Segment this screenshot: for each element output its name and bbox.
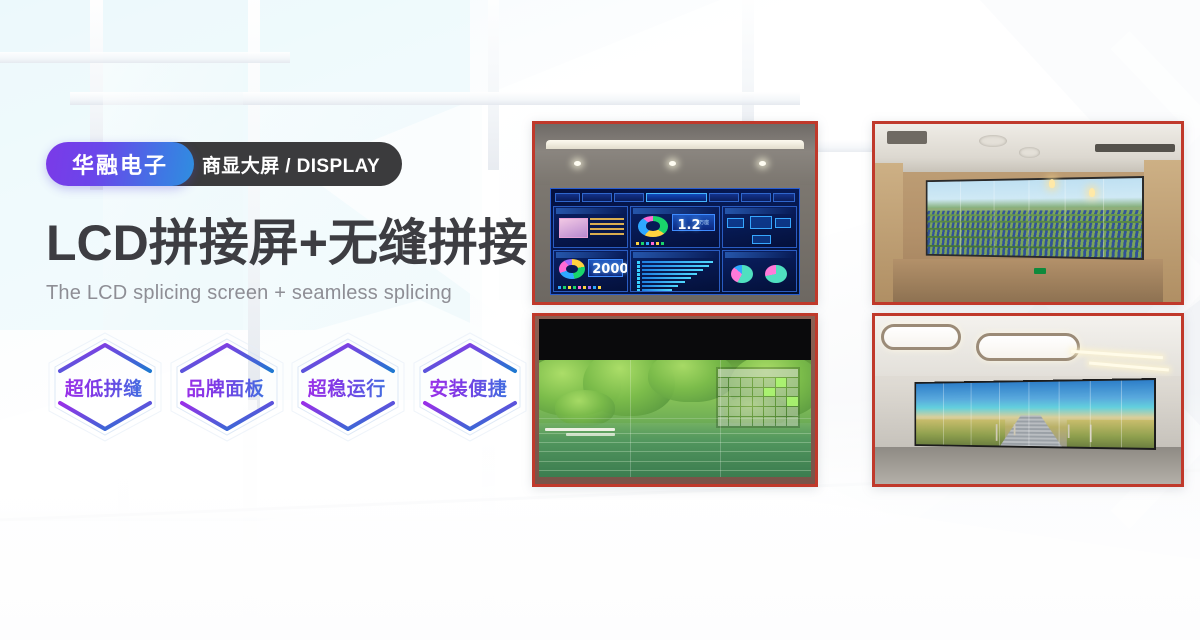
- pond-railing: [545, 428, 616, 431]
- dashboard-status-chip: [773, 193, 795, 202]
- dashboard-card-grid: 1.2 万座: [553, 206, 796, 292]
- dashboard-card-flow: [722, 206, 797, 248]
- page-title: LCD拼接屏+无缝拼接: [46, 216, 526, 270]
- video-wall-display: [915, 378, 1157, 450]
- dashboard-title-chip: [646, 193, 707, 202]
- pie-chart: [765, 265, 787, 283]
- dashboard-card-ranking: [630, 250, 719, 292]
- card-thumbnail: [559, 218, 588, 239]
- wood-wainscot: [893, 259, 1162, 302]
- ceiling-trim: [546, 140, 804, 149]
- chart-legend: [558, 286, 624, 289]
- headline-block: 商显大屏 / DISPLAY 华融电子 LCD拼接屏+无缝拼接 The LCD …: [46, 142, 526, 443]
- card-header: [725, 208, 794, 214]
- pond-screen-scene: [535, 316, 815, 484]
- metric-panel: 2000: [588, 259, 623, 277]
- pond-water: [539, 423, 811, 477]
- beach-wall-scene: [875, 316, 1181, 484]
- feature-hexagon-list: 超低拼缝 品牌面板: [46, 331, 526, 443]
- ceiling-vent: [1095, 144, 1175, 153]
- feature-hexagon-3: 安装便捷: [411, 331, 527, 443]
- dashboard-card-overview: [553, 206, 628, 248]
- feature-label-3: 安装便捷: [429, 374, 507, 401]
- metric-primary-unit: 万座: [699, 219, 709, 226]
- wall-spotlight: [1089, 188, 1095, 197]
- card-header: [633, 208, 716, 214]
- card-header: [725, 252, 794, 258]
- card-header: [556, 252, 625, 258]
- pond-display: [539, 360, 811, 478]
- dashboard-nav-chip: [709, 193, 739, 202]
- beach-dune: [1067, 420, 1154, 449]
- donut-chart: [638, 216, 668, 237]
- screen-top-panel-row: [539, 319, 811, 359]
- ceiling-light-oval: [881, 324, 961, 349]
- exit-sign-icon: [1034, 268, 1046, 274]
- dashboard-card-pies: [722, 250, 797, 292]
- photo-beach-boardwalk-video-wall: [872, 313, 1184, 487]
- promo-banner: 商显大屏 / DISPLAY 华融电子 LCD拼接屏+无缝拼接 The LCD …: [0, 0, 1200, 640]
- brand-name-badge: 华融电子: [46, 142, 194, 186]
- dashboard-nav-chip: [582, 193, 612, 202]
- chart-legend: [636, 242, 715, 245]
- photo-control-room-dashboard: 1.2 万座: [532, 121, 818, 305]
- pond-railing: [566, 433, 615, 436]
- calendar-title: [718, 369, 798, 377]
- flow-node: [752, 235, 771, 244]
- feature-hexagon-2: 超稳运行: [289, 331, 405, 443]
- dashboard-topbar: [553, 191, 796, 204]
- flow-node: [775, 218, 791, 228]
- donut-hole: [646, 221, 660, 231]
- dashboard-nav-chip: [741, 193, 771, 202]
- card-header: [556, 208, 625, 214]
- dashboard-card-statistics: 1.2 万座: [630, 206, 719, 248]
- solar-panel-field: [928, 208, 1142, 257]
- dashboard-scene: 1.2 万座: [535, 124, 815, 302]
- page-subtitle: The LCD splicing screen + seamless splic…: [46, 282, 526, 305]
- solar-wall-scene: [875, 124, 1181, 302]
- metric-secondary-value: 2000: [592, 262, 628, 277]
- boardwalk: [1000, 416, 1062, 447]
- flow-node: [750, 216, 772, 230]
- ceiling-light-oval: [976, 333, 1080, 362]
- dashboard-nav-chip: [614, 193, 644, 202]
- card-text-lines: [590, 218, 624, 239]
- ceiling-speaker: [979, 135, 1007, 147]
- video-wall-display: [926, 176, 1144, 260]
- metric-panel: 1.2 万座: [672, 214, 716, 231]
- dashboard-screen: 1.2 万座: [550, 188, 799, 295]
- brand-badge-row: 商显大屏 / DISPLAY 华融电子: [46, 142, 526, 186]
- feature-label-1: 品牌面板: [186, 374, 264, 401]
- dashboard-timestamp-chip: [555, 193, 579, 202]
- bar-chart: [637, 261, 714, 289]
- room-ceiling: [535, 124, 815, 185]
- photo-willow-pond-screen: [532, 313, 818, 487]
- card-header: [633, 252, 716, 258]
- donut-chart: [559, 259, 585, 279]
- flow-node: [727, 218, 745, 228]
- lobby-floor: [875, 447, 1181, 484]
- metric-primary-value: 1.2: [677, 218, 700, 233]
- donut-hole: [566, 265, 578, 274]
- ceiling-speaker: [1019, 147, 1040, 158]
- dashboard-card-region: 2000: [553, 250, 628, 292]
- feature-hexagon-0: 超低拼缝: [46, 331, 162, 443]
- feature-hexagon-1: 品牌面板: [168, 331, 284, 443]
- pie-chart: [731, 265, 753, 283]
- feature-label-0: 超低拼缝: [65, 374, 143, 401]
- beach-dune: [916, 419, 1005, 446]
- ceiling-vent: [887, 131, 927, 143]
- feature-label-2: 超稳运行: [308, 374, 386, 401]
- photo-solar-farm-video-wall: [872, 121, 1184, 305]
